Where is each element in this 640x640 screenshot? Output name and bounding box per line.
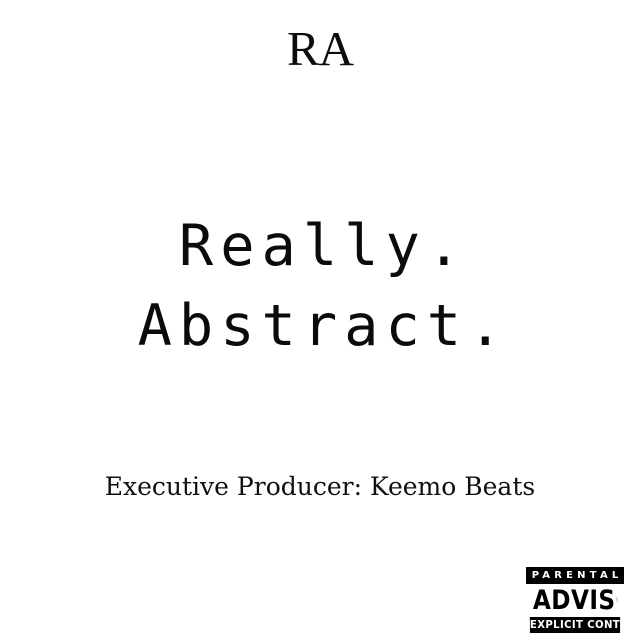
advisory-advisory-label: ADVISORY	[533, 587, 617, 614]
executive-producer-credit: Executive Producer: Keemo Beats	[0, 472, 640, 502]
advisory-explicit-content-label: EXPLICIT CONTENT	[530, 617, 620, 633]
parental-advisory-icon: PARENTAL ADVISORY EXPLICIT CONTENT	[526, 567, 624, 633]
advisory-parental-label: PARENTAL	[526, 567, 624, 584]
artist-name: RA	[0, 24, 640, 73]
album-title-line-2: Abstract.	[0, 286, 640, 366]
album-cover-artwork: RA Really. Abstract. Executive Producer:…	[0, 0, 640, 640]
album-title: Really. Abstract.	[0, 206, 640, 366]
album-title-line-1: Really.	[0, 206, 640, 286]
